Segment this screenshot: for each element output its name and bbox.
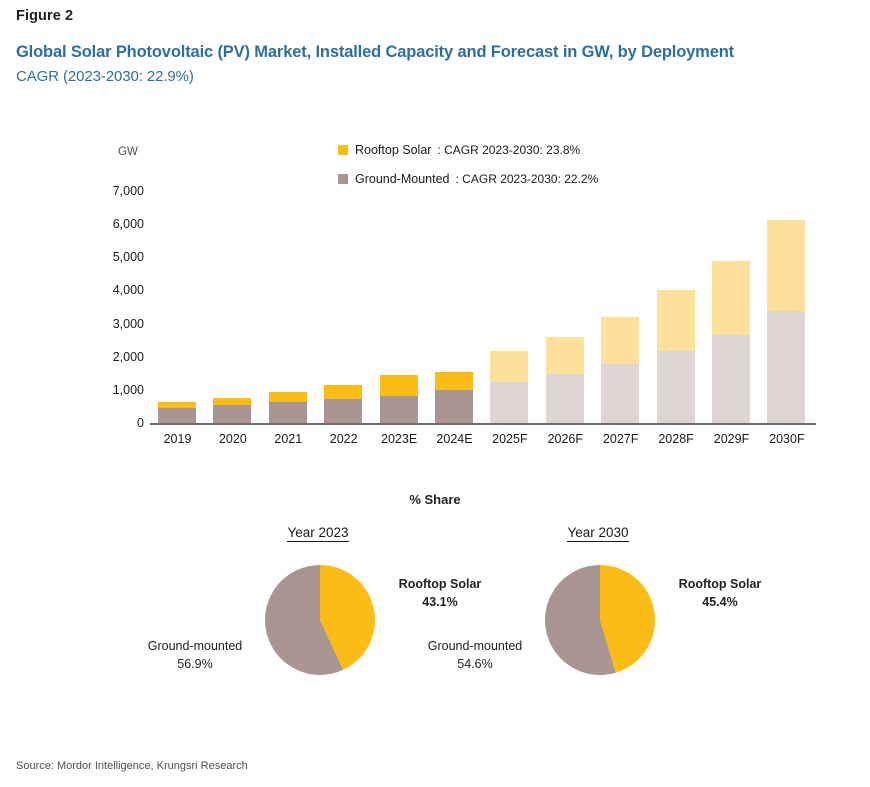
y-tick-label: 5,000 xyxy=(84,250,144,264)
bar-segment-ground xyxy=(712,335,750,423)
bar-2029F[interactable] xyxy=(712,261,750,423)
bar-2023E[interactable] xyxy=(380,375,418,423)
pie-graphic xyxy=(543,563,657,677)
pie-label-rooftop-name: Rooftop Solar xyxy=(679,577,762,591)
y-tick-label: 4,000 xyxy=(84,283,144,297)
bar-segment-rooftop xyxy=(324,385,362,400)
legend-swatch-rooftop xyxy=(338,145,348,155)
bar-2020[interactable] xyxy=(213,398,251,424)
legend-cagr-rooftop: : CAGR 2023-2030: 23.8% xyxy=(437,143,580,157)
figure-page: Figure 2 Global Solar Photovoltaic (PV) … xyxy=(0,0,870,787)
figure-label: Figure 2 xyxy=(16,8,73,24)
y-tick-label: 7,000 xyxy=(84,184,144,198)
x-tick-label-2021: 2021 xyxy=(261,432,316,446)
bar-2022[interactable] xyxy=(324,385,362,423)
bar-segment-ground xyxy=(380,396,418,423)
x-tick-label-2027F: 2027F xyxy=(593,432,648,446)
bar-2019[interactable] xyxy=(158,402,196,423)
bar-2026F[interactable] xyxy=(546,337,584,423)
x-axis-line xyxy=(150,423,816,425)
legend-item-rooftop[interactable]: Rooftop Solar : CAGR 2023-2030: 23.8% xyxy=(338,143,598,157)
pie-label-ground-value: 54.6% xyxy=(457,657,492,671)
pie-graphic xyxy=(263,563,377,677)
pie-label-ground-name: Ground-mounted xyxy=(428,639,523,653)
chart-legend: Rooftop Solar : CAGR 2023-2030: 23.8% Gr… xyxy=(338,143,598,201)
page-subtitle: CAGR (2023-2030: 22.9%) xyxy=(16,68,194,85)
pie-label-rooftop-value: 45.4% xyxy=(702,595,737,609)
y-tick-label: 1,000 xyxy=(84,383,144,397)
share-section-heading: % Share xyxy=(0,492,870,507)
bar-2030F[interactable] xyxy=(767,220,805,423)
y-tick-label: 3,000 xyxy=(84,317,144,331)
bar-segment-ground xyxy=(546,374,584,423)
bar-segment-ground xyxy=(657,351,695,423)
bar-segment-ground xyxy=(324,399,362,423)
bar-segment-ground xyxy=(158,408,196,423)
bar-segment-ground xyxy=(490,382,528,423)
y-axis-ticks: 01,0002,0003,0004,0005,0006,0007,000 xyxy=(48,120,144,465)
bar-segment-ground xyxy=(435,390,473,423)
bar-2028F[interactable] xyxy=(657,290,695,423)
y-tick-label: 2,000 xyxy=(84,350,144,364)
bar-segment-rooftop xyxy=(213,398,251,406)
x-tick-label-2024E: 2024E xyxy=(427,432,482,446)
y-tick-label: 0 xyxy=(84,416,144,430)
bar-segment-rooftop xyxy=(380,375,418,396)
legend-cagr-ground: : CAGR 2023-2030: 22.2% xyxy=(456,172,599,186)
bar-segment-rooftop xyxy=(712,261,750,335)
x-tick-label-2029F: 2029F xyxy=(704,432,759,446)
pie-chart-2030: Year 2030 Rooftop Solar45.4%Ground-mount… xyxy=(408,525,788,725)
x-tick-label-2023E: 2023E xyxy=(372,432,427,446)
legend-swatch-ground xyxy=(338,174,348,184)
legend-label-ground: Ground-Mounted xyxy=(355,172,450,186)
bar-segment-rooftop xyxy=(490,351,528,382)
pie-label-ground-name: Ground-mounted xyxy=(148,639,243,653)
x-tick-label-2022: 2022 xyxy=(316,432,371,446)
pie-label-ground: Ground-mounted54.6% xyxy=(410,637,540,673)
pie-label-rooftop: Rooftop Solar45.4% xyxy=(655,575,785,611)
pie-label-ground: Ground-mounted56.9% xyxy=(130,637,260,673)
bar-segment-rooftop xyxy=(657,290,695,351)
x-tick-label-2026F: 2026F xyxy=(538,432,593,446)
source-note: Source: Mordor Intelligence, Krungsri Re… xyxy=(16,760,248,772)
bar-2024E[interactable] xyxy=(435,372,473,423)
bar-segment-rooftop xyxy=(435,372,473,390)
bar-segment-ground xyxy=(269,402,307,423)
legend-label-rooftop: Rooftop Solar xyxy=(355,143,431,157)
bar-segment-rooftop xyxy=(269,392,307,402)
x-tick-label-2030F: 2030F xyxy=(759,432,814,446)
x-axis-labels: 20192020202120222023E2024E2025F2026F2027… xyxy=(150,432,815,456)
bar-2021[interactable] xyxy=(269,392,307,423)
pie-label-ground-value: 56.9% xyxy=(177,657,212,671)
x-tick-label-2019: 2019 xyxy=(150,432,205,446)
pie-heading-2030: Year 2030 xyxy=(408,525,788,540)
bar-2025F[interactable] xyxy=(490,351,528,423)
bar-segment-ground xyxy=(767,311,805,423)
x-tick-label-2025F: 2025F xyxy=(482,432,537,446)
bar-2027F[interactable] xyxy=(601,317,639,423)
y-tick-label: 6,000 xyxy=(84,217,144,231)
page-title: Global Solar Photovoltaic (PV) Market, I… xyxy=(16,43,861,62)
bar-segment-ground xyxy=(601,364,639,423)
bar-segment-rooftop xyxy=(767,220,805,311)
x-tick-label-2020: 2020 xyxy=(205,432,260,446)
bar-segment-rooftop xyxy=(601,317,639,364)
legend-item-ground[interactable]: Ground-Mounted : CAGR 2023-2030: 22.2% xyxy=(338,172,598,186)
x-tick-label-2028F: 2028F xyxy=(649,432,704,446)
bar-segment-ground xyxy=(213,405,251,423)
bar-segment-rooftop xyxy=(546,337,584,374)
